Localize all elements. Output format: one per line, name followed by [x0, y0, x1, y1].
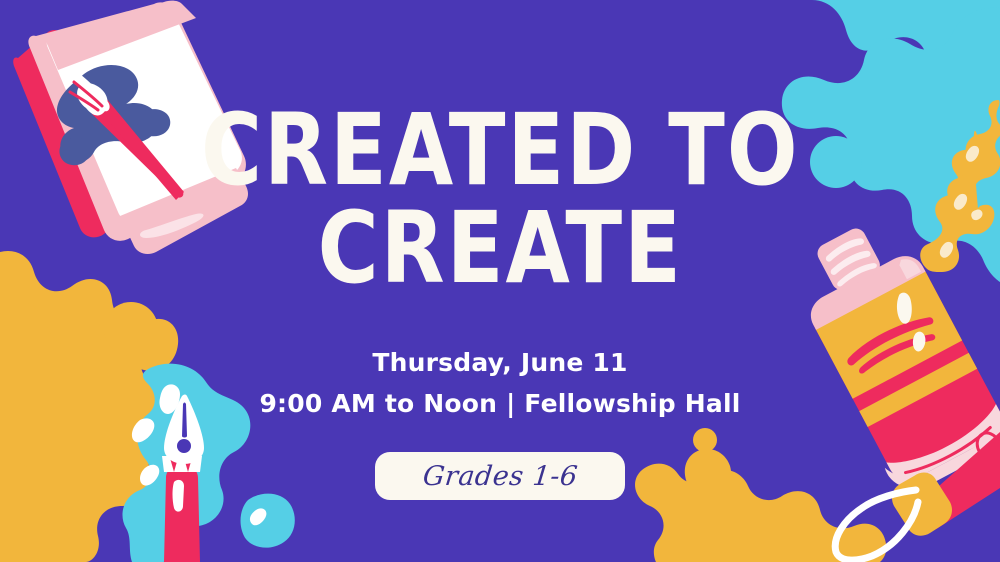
event-date: Thursday, June 11: [259, 348, 740, 377]
event-time-and-location: 9:00 AM to Noon | Fellowship Hall: [259, 389, 740, 418]
grades-badge: Grades 1-6: [375, 452, 625, 500]
poster-content: Created to Create Thursday, June 11 9:00…: [0, 0, 1000, 562]
event-poster: Created to Create Thursday, June 11 9:00…: [0, 0, 1000, 562]
grades-badge-label: Grades 1-6: [421, 461, 579, 492]
page-title: Created to Create: [198, 104, 803, 280]
title-line-2: Create: [201, 202, 800, 294]
event-details: Thursday, June 11 9:00 AM to Noon | Fell…: [259, 348, 740, 418]
title-line-1: Created to: [201, 104, 800, 196]
